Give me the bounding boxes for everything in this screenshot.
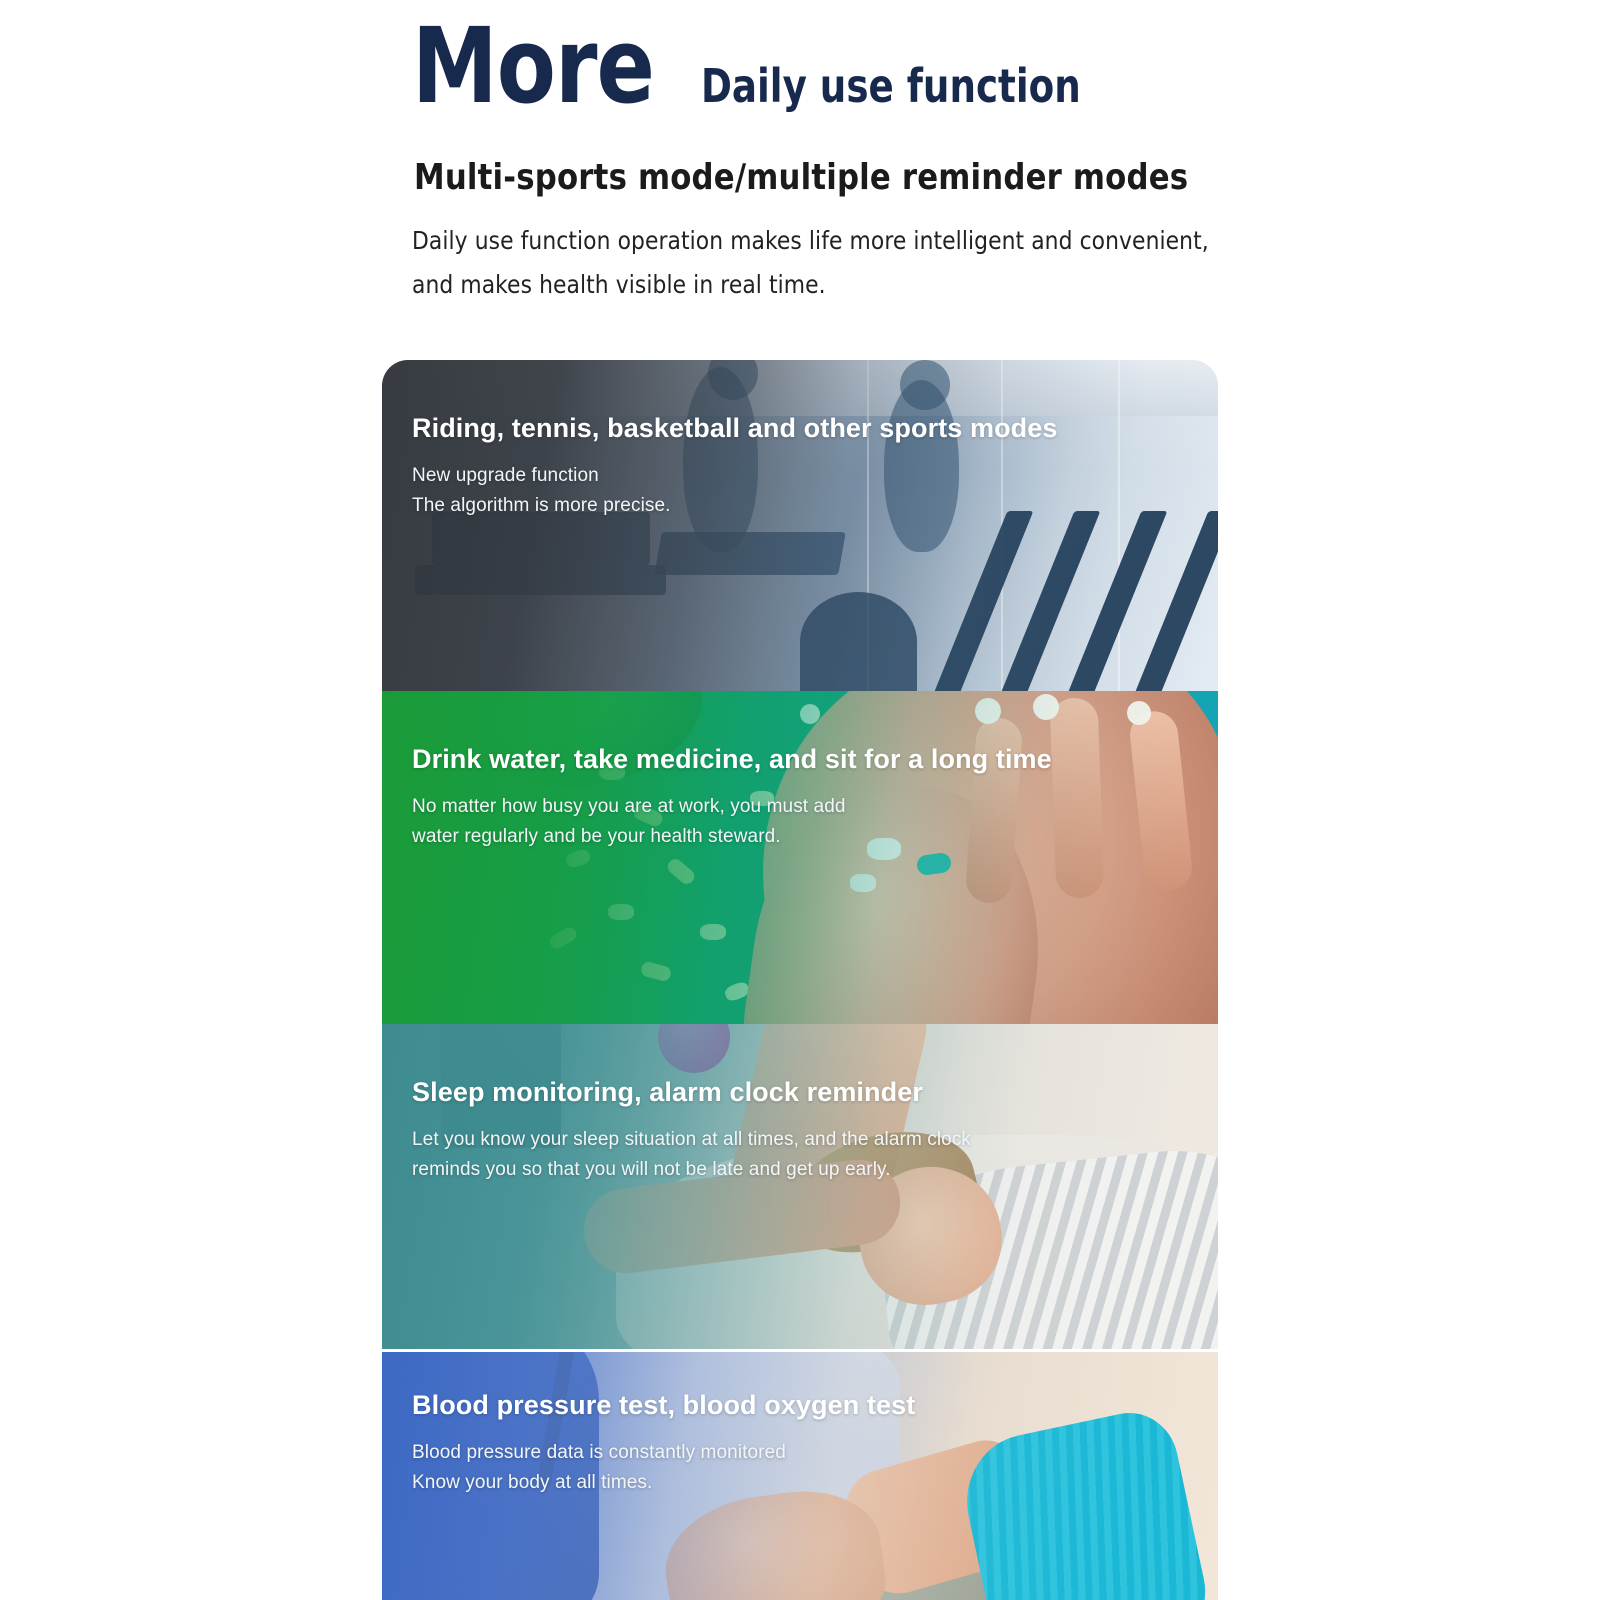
card-body-line-2: reminds you so that you will not be late… (412, 1155, 971, 1185)
card-overlay-tint (382, 691, 1218, 1024)
card-copy: Blood pressure test, blood oxygen test B… (412, 1389, 915, 1498)
card-body: New upgrade function The algorithm is mo… (412, 461, 1058, 521)
card-overlay-tint (382, 360, 1218, 691)
card-body-line-1: New upgrade function (412, 461, 1058, 491)
card-body: Let you know your sleep situation at all… (412, 1125, 971, 1185)
card-body-line-2: Know your body at all times. (412, 1468, 915, 1498)
card-body-line-1: No matter how busy you are at work, you … (412, 792, 1052, 822)
card-copy: Drink water, take medicine, and sit for … (412, 743, 1052, 852)
page-title: More Daily use function (412, 14, 1123, 118)
card-body-line-1: Let you know your sleep situation at all… (412, 1125, 971, 1155)
feature-card-sports[interactable]: Riding, tennis, basketball and other spo… (382, 360, 1218, 691)
feature-card-reminders[interactable]: Drink water, take medicine, and sit for … (382, 691, 1218, 1024)
feature-card-stack: Riding, tennis, basketball and other spo… (382, 360, 1218, 1600)
card-title: Riding, tennis, basketball and other spo… (412, 412, 1058, 444)
feature-card-blood-pressure[interactable]: Blood pressure test, blood oxygen test B… (382, 1349, 1218, 1600)
card-body: No matter how busy you are at work, you … (412, 792, 1052, 852)
card-title: Sleep monitoring, alarm clock reminder (412, 1076, 971, 1108)
card-body: Blood pressure data is constantly monito… (412, 1438, 915, 1498)
description-line-1: Daily use function operation makes life … (412, 219, 1209, 263)
card-copy: Sleep monitoring, alarm clock reminder L… (412, 1076, 971, 1185)
feature-card-sleep[interactable]: Sleep monitoring, alarm clock reminder L… (382, 1024, 1218, 1349)
title-main-word: More (412, 14, 654, 118)
card-overlay-tint (382, 1024, 1218, 1349)
card-body-line-2: water regularly and be your health stewa… (412, 822, 1052, 852)
section-description: Daily use function operation makes life … (412, 219, 1209, 307)
card-body-line-1: Blood pressure data is constantly monito… (412, 1438, 915, 1468)
card-title: Drink water, take medicine, and sit for … (412, 743, 1052, 775)
section-subheading: Multi-sports mode/multiple reminder mode… (414, 157, 1188, 199)
card-body-line-2: The algorithm is more precise. (412, 491, 1058, 521)
card-separator (382, 1349, 1218, 1352)
title-subtitle-word: Daily use function (701, 63, 1081, 109)
card-title: Blood pressure test, blood oxygen test (412, 1389, 915, 1421)
description-line-2: and makes health visible in real time. (412, 263, 1209, 307)
card-copy: Riding, tennis, basketball and other spo… (412, 412, 1058, 521)
promo-page: More Daily use function Multi-sports mod… (0, 0, 1600, 1600)
